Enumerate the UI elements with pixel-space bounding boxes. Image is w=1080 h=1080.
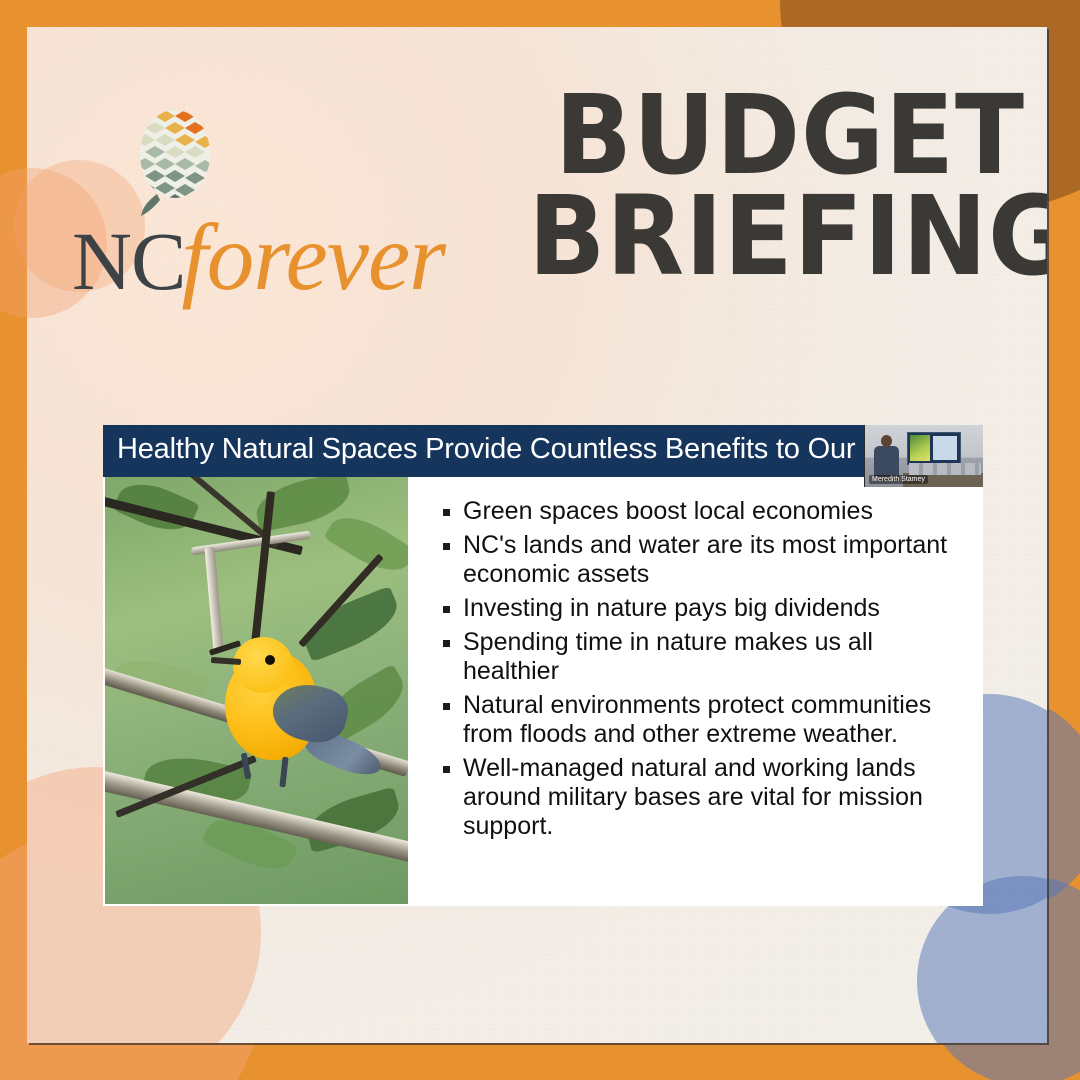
embedded-slide: Healthy Natural Spaces Provide Countless… (103, 425, 983, 906)
list-item: Natural environments protect communities… (443, 691, 963, 749)
list-item: Spending time in nature makes us all hea… (443, 628, 963, 686)
nc-forever-logo: NCforever (72, 102, 512, 317)
title-line-briefing: BRIEFING (528, 186, 1025, 287)
bird-head (233, 637, 293, 693)
bullet-marker-icon (443, 543, 450, 550)
bird-beak-lower (211, 657, 241, 665)
content-card: NCforever BUDGET BRIEFING Healthy Natura… (27, 27, 1047, 1043)
wordmark-nc: NC (72, 215, 185, 307)
bullet-marker-icon (443, 703, 450, 710)
wordmark-forever: forever (181, 204, 445, 310)
bird-leg-back (279, 757, 288, 787)
list-item-text: NC's lands and water are its most import… (463, 531, 963, 589)
slide-body: Green spaces boost local economies NC's … (103, 477, 983, 906)
list-item: Green spaces boost local economies (443, 497, 963, 526)
title-line-budget: BUDGET (528, 85, 1025, 186)
bullet-marker-icon (443, 606, 450, 613)
list-item-text: Investing in nature pays big dividends (463, 594, 880, 623)
list-item-text: Spending time in nature makes us all hea… (463, 628, 963, 686)
presenter-body (874, 446, 899, 476)
bullet-marker-icon (443, 640, 450, 647)
list-item: Well-managed natural and working lands a… (443, 754, 963, 841)
list-item: Investing in nature pays big dividends (443, 594, 963, 623)
prothonotary-warbler-photo (105, 477, 408, 904)
nc-forever-wordmark: NCforever (72, 202, 512, 312)
bullet-marker-icon (443, 766, 450, 773)
list-item-text: Natural environments protect communities… (463, 691, 963, 749)
screen-map-region (910, 435, 930, 461)
slide-bullet-list: Green spaces boost local economies NC's … (443, 497, 963, 846)
bullet-marker-icon (443, 509, 450, 516)
poster-canvas: NCforever BUDGET BRIEFING Healthy Natura… (0, 0, 1080, 1080)
list-item-text: Well-managed natural and working lands a… (463, 754, 963, 841)
poster-header: NCforever BUDGET BRIEFING (27, 27, 1047, 357)
slide-header-title: Healthy Natural Spaces Provide Countless… (117, 433, 983, 466)
page-title: BUDGET BRIEFING (485, 85, 1025, 287)
presentation-screen-icon (907, 432, 961, 465)
list-item: NC's lands and water are its most import… (443, 531, 963, 589)
list-item-text: Green spaces boost local economies (463, 497, 873, 526)
conference-chairs (909, 463, 981, 475)
presenter-head (881, 435, 892, 447)
screen-text-region (933, 436, 957, 460)
bird-eye (265, 655, 275, 665)
